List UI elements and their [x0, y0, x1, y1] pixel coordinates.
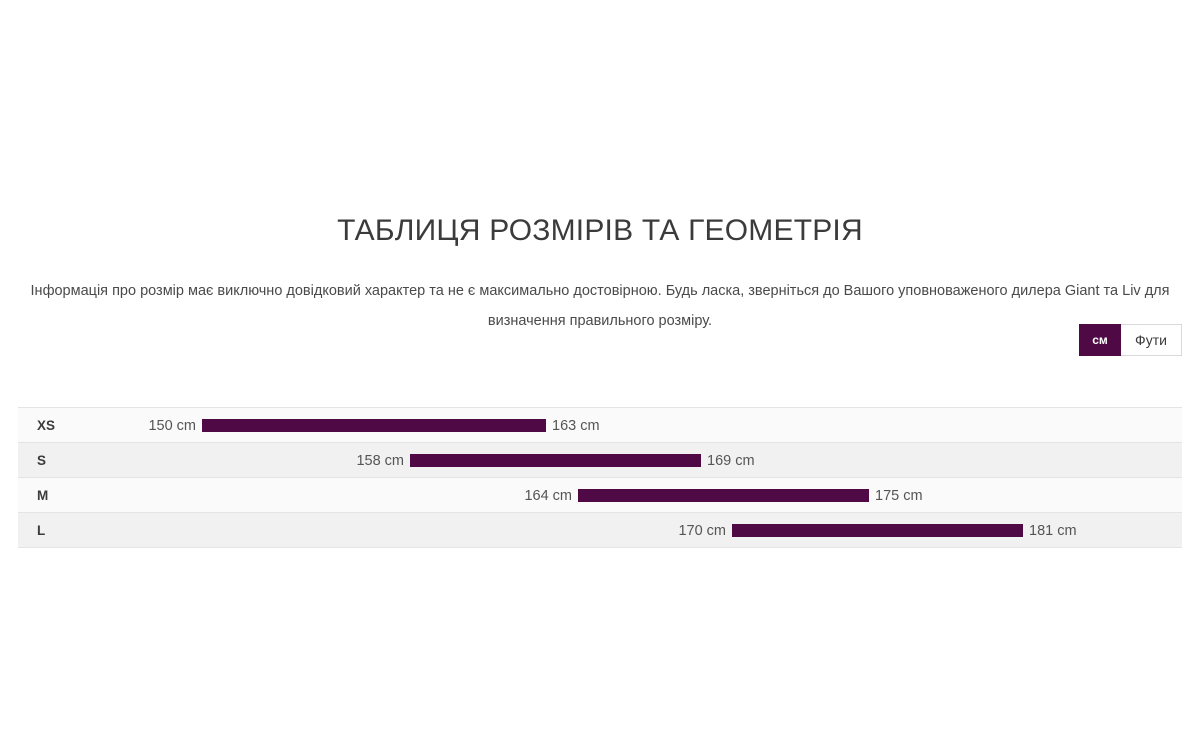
height-range: 170 cm181 cm [678, 513, 1076, 548]
size-table: XS150 cm163 cmS158 cm169 cmM164 cm175 cm… [18, 407, 1182, 548]
range-bar [578, 489, 869, 502]
range-min-label: 150 cm [148, 418, 196, 434]
size-label: M [37, 478, 48, 513]
unit-toggle-cm[interactable]: см [1079, 324, 1121, 356]
range-bar [410, 454, 701, 467]
size-label: L [37, 513, 45, 548]
table-row: XS150 cm163 cm [18, 408, 1182, 443]
page-title: ТАБЛИЦЯ РОЗМІРІВ ТА ГЕОМЕТРІЯ [0, 211, 1200, 251]
range-max-label: 175 cm [875, 488, 923, 504]
table-row: S158 cm169 cm [18, 443, 1182, 478]
range-bar [202, 419, 546, 432]
size-chart-page: ТАБЛИЦЯ РОЗМІРІВ ТА ГЕОМЕТРІЯ Інформація… [0, 0, 1200, 729]
range-max-label: 163 cm [552, 418, 600, 434]
size-label: S [37, 443, 46, 478]
range-max-label: 181 cm [1029, 523, 1077, 539]
unit-toggle-feet[interactable]: Фути [1121, 324, 1182, 356]
range-bar [732, 524, 1023, 537]
height-range: 150 cm163 cm [148, 408, 599, 443]
table-row: M164 cm175 cm [18, 478, 1182, 513]
height-range: 158 cm169 cm [356, 443, 754, 478]
table-row: L170 cm181 cm [18, 513, 1182, 548]
range-min-label: 158 cm [356, 453, 404, 469]
size-disclaimer-text: Інформація про розмір має виключно довід… [20, 276, 1180, 336]
range-min-label: 164 cm [524, 488, 572, 504]
range-min-label: 170 cm [678, 523, 726, 539]
size-label: XS [37, 408, 55, 443]
unit-toggle-group[interactable]: см Фути [1079, 324, 1182, 356]
range-max-label: 169 cm [707, 453, 755, 469]
height-range: 164 cm175 cm [524, 478, 922, 513]
